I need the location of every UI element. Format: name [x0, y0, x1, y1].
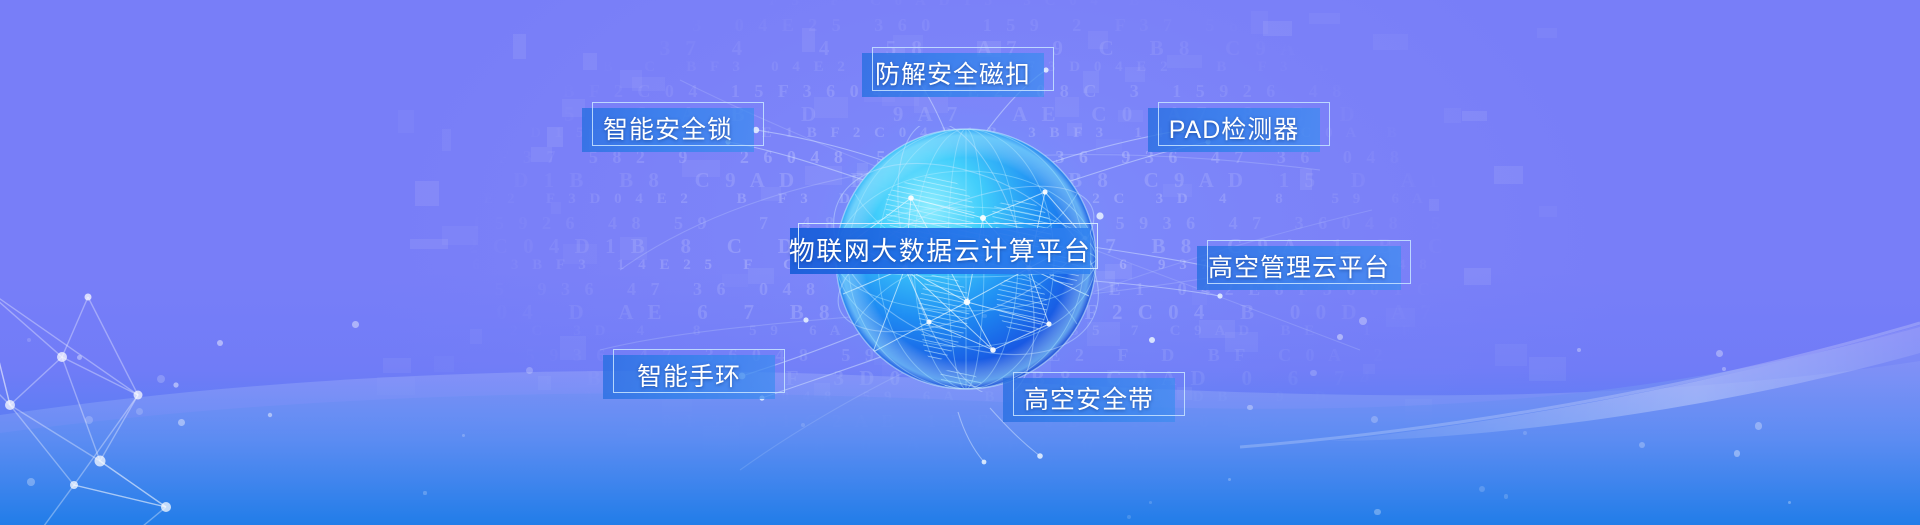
label-text: 智能安全锁: [603, 118, 733, 143]
label-text: 高空管理云平台: [1208, 256, 1390, 281]
particle-dot: [526, 367, 533, 374]
particle-dot: [27, 338, 32, 343]
particle-dot: [27, 478, 35, 486]
particle-dot: [1371, 416, 1378, 423]
label-pad-detector[interactable]: PAD检测器: [1148, 108, 1320, 152]
particle-dot: [1228, 478, 1231, 481]
particle-dot: [178, 419, 185, 426]
particle-dot: [1359, 317, 1367, 325]
particle-dot: [1127, 515, 1132, 520]
particle-dot: [85, 416, 93, 424]
iot-platform-banner: 0 4 2 E 8 F 3 6 0 1 C 2 A E A 8 C 9 D B …: [0, 0, 1920, 525]
particle-dot: [352, 321, 359, 328]
label-text: PAD检测器: [1169, 118, 1300, 143]
label-text: 智能手环: [637, 365, 741, 390]
particle-dot: [1337, 334, 1343, 340]
particle-dot: [1374, 509, 1380, 515]
particle-dot: [1310, 370, 1317, 377]
label-text: 高空安全带: [1024, 388, 1154, 413]
particle-dot: [1504, 494, 1509, 499]
particle-dot: [1577, 348, 1581, 352]
particle-dot: [1479, 486, 1485, 492]
particle-dot: [1716, 350, 1723, 357]
particle-dot: [1722, 367, 1726, 371]
label-aerial-safety-harness[interactable]: 高空安全带: [1003, 378, 1175, 422]
particle-dot: [1755, 422, 1762, 429]
label-iot-bigdata-cloud-platform[interactable]: 物联网大数据云计算平台: [790, 228, 1090, 274]
particle-dot: [462, 434, 465, 437]
particle-dot: [1247, 405, 1253, 411]
particle-dot: [423, 491, 426, 494]
label-text: 防解安全磁扣: [875, 63, 1031, 88]
particle-dot: [1734, 450, 1741, 457]
particle-dot: [982, 314, 987, 319]
particle-dot: [157, 375, 165, 383]
label-anti-release-magnetic-buckle[interactable]: 防解安全磁扣: [862, 53, 1044, 97]
particle-dot: [1149, 501, 1152, 504]
label-smart-security-lock[interactable]: 智能安全锁: [582, 108, 754, 152]
label-smart-wristband[interactable]: 智能手环: [603, 355, 775, 399]
particle-dot: [1639, 442, 1645, 448]
label-text: 物联网大数据云计算平台: [789, 238, 1092, 264]
particle-dot: [136, 408, 143, 415]
particle-dot: [801, 423, 805, 427]
label-aerial-management-cloud-platform[interactable]: 高空管理云平台: [1197, 246, 1401, 290]
particle-dot: [77, 355, 82, 360]
particle-dot: [1523, 431, 1527, 435]
particle-dot: [1788, 501, 1791, 504]
